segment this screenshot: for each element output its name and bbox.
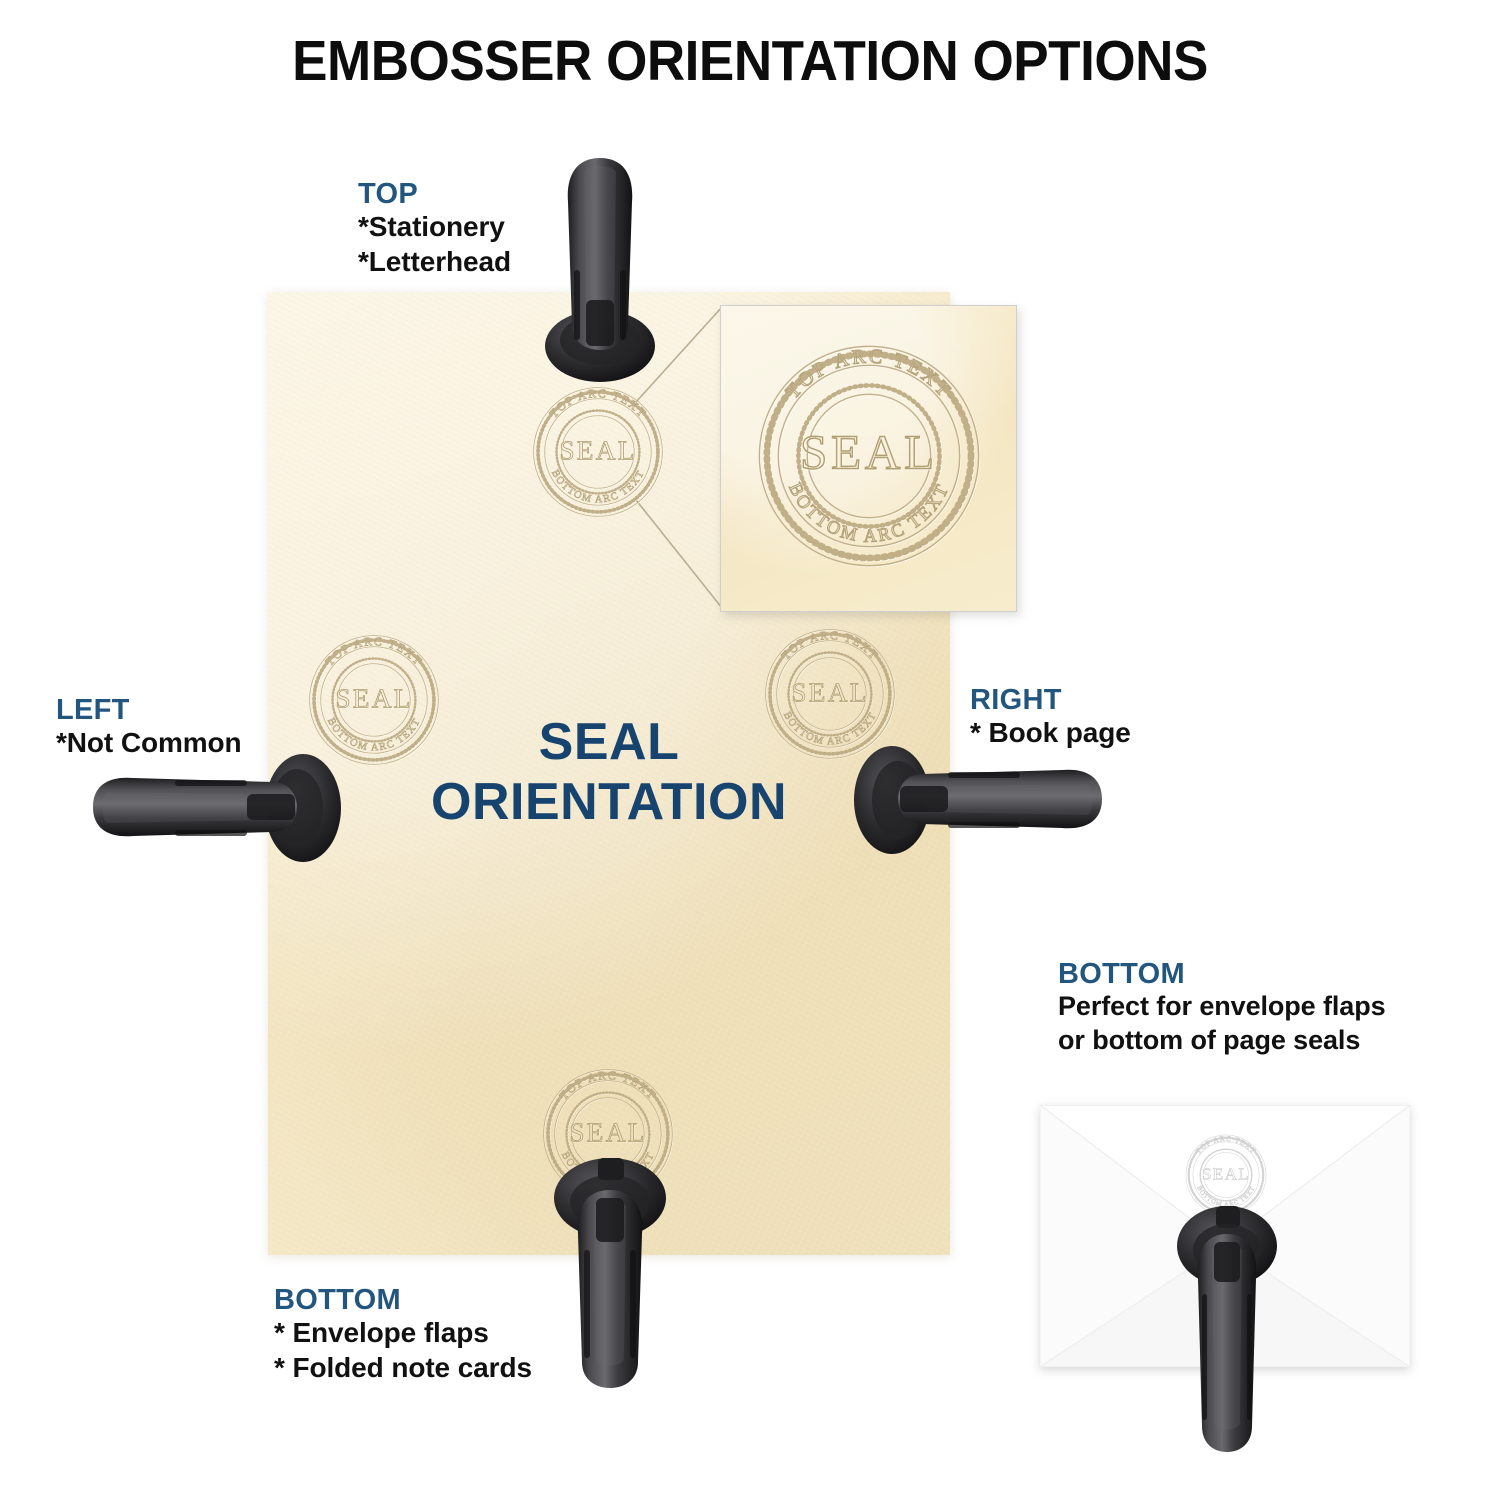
- seal-impression-top: TOP ARC TEXT TOP ARC TEXT BOTTOM ARC TEX…: [524, 378, 672, 526]
- page-title: EMBOSSER ORIENTATION OPTIONS: [53, 32, 1448, 92]
- annotation-bottom-page-line-2: * Folded note cards: [274, 1351, 532, 1386]
- annotation-right-line-1: * Book page: [970, 716, 1131, 751]
- annotation-bottom-envelope-heading: BOTTOM: [1058, 958, 1386, 990]
- embosser-top: [540, 150, 660, 385]
- annotation-top: TOP *Stationery *Letterhead: [358, 178, 511, 280]
- seal-center-text: SEAL: [559, 435, 636, 465]
- infographic-canvas: EMBOSSER ORIENTATION OPTIONS TOP ARC TEX…: [0, 0, 1500, 1500]
- svg-text:SEAL: SEAL: [569, 1117, 646, 1147]
- embosser-envelope: [1172, 1200, 1282, 1460]
- annotation-right: RIGHT * Book page: [970, 684, 1131, 751]
- annotation-top-line-1: *Stationery: [358, 210, 511, 245]
- magnified-seal-callout: TOP ARC TEXT TOP ARC TEXT BOTTOM ARC TEX…: [720, 305, 1017, 612]
- annotation-right-heading: RIGHT: [970, 684, 1131, 716]
- annotation-bottom-envelope-line-2: or bottom of page seals: [1058, 1024, 1386, 1057]
- svg-text:SEAL: SEAL: [335, 683, 412, 713]
- annotation-left-heading: LEFT: [56, 694, 242, 726]
- annotation-bottom-page-heading: BOTTOM: [274, 1284, 532, 1316]
- svg-text:SEAL: SEAL: [791, 677, 868, 707]
- annotation-bottom-envelope: BOTTOM Perfect for envelope flaps or bot…: [1058, 958, 1386, 1057]
- svg-text:SEAL: SEAL: [800, 425, 938, 480]
- annotation-bottom-page: BOTTOM * Envelope flaps * Folded note ca…: [274, 1284, 532, 1386]
- annotation-left: LEFT *Not Common: [56, 694, 242, 761]
- annotation-left-line-1: *Not Common: [56, 726, 242, 761]
- center-label-line1: SEAL: [539, 713, 680, 771]
- embosser-right: [845, 744, 1110, 854]
- annotation-bottom-envelope-line-1: Perfect for envelope flaps: [1058, 990, 1386, 1023]
- annotation-top-line-2: *Letterhead: [358, 245, 511, 280]
- svg-text:SEAL: SEAL: [1202, 1165, 1250, 1184]
- annotation-top-heading: TOP: [358, 178, 511, 210]
- magnified-seal-impression: TOP ARC TEXT TOP ARC TEXT BOTTOM ARC TEX…: [743, 330, 995, 582]
- annotation-bottom-page-line-1: * Envelope flaps: [274, 1316, 532, 1351]
- embosser-left: [85, 752, 350, 862]
- embosser-bottom: [548, 1150, 673, 1395]
